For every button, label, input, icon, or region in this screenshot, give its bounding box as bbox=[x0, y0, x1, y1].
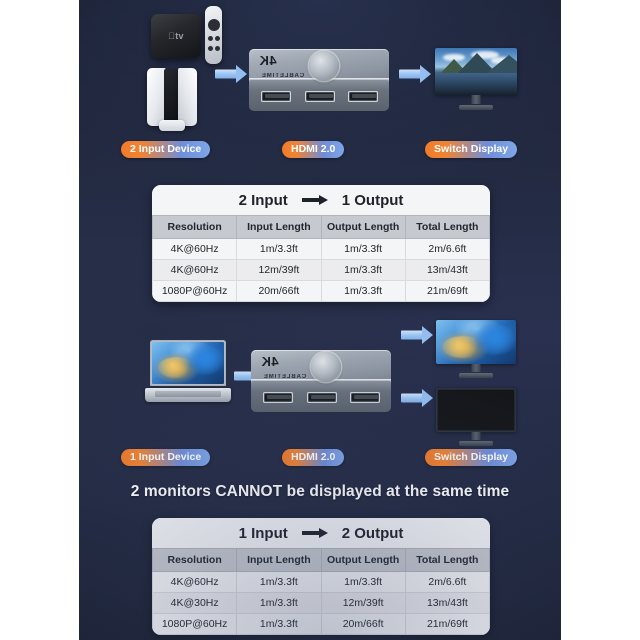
table-row: 1080P@60Hz 1m/3.3ft 20m/66ft 21m/69ft bbox=[153, 614, 490, 635]
hdmi-port bbox=[350, 392, 380, 403]
table-title: 2 Input 1 Output bbox=[152, 185, 490, 215]
hdmi-port bbox=[307, 392, 337, 403]
table-title: 1 Input 2 Output bbox=[152, 518, 490, 548]
switch-4k-label: 4K bbox=[261, 354, 279, 369]
column-header: Resolution bbox=[153, 216, 237, 239]
apple-tv-box: tv bbox=[151, 14, 201, 58]
column-header: Output Length bbox=[321, 549, 405, 572]
monitor-neck bbox=[472, 432, 481, 440]
cell-output-length: 1m/3.3ft bbox=[321, 260, 405, 281]
cell-input-length: 1m/3.3ft bbox=[237, 593, 321, 614]
table-header-row: Resolution Input Length Output Length To… bbox=[153, 216, 490, 239]
remote-button-icon bbox=[208, 36, 213, 41]
laptop-screen bbox=[152, 342, 224, 384]
hdmi-port bbox=[348, 91, 378, 102]
input-laptop bbox=[145, 340, 231, 402]
badge-hdmi-version: HDMI 2.0 bbox=[282, 449, 344, 466]
hdmi-switch-device: 4K CABLETIME bbox=[249, 49, 389, 111]
flow-arrow-icon bbox=[401, 325, 433, 345]
table-row: 4K@30Hz 1m/3.3ft 12m/39ft 13m/43ft bbox=[153, 593, 490, 614]
column-header: Total Length bbox=[405, 549, 489, 572]
inactive-output-monitor bbox=[436, 388, 516, 446]
spec-table: Resolution Input Length Output Length To… bbox=[152, 548, 490, 635]
cell-resolution: 1080P@60Hz bbox=[153, 281, 237, 302]
laptop-lid bbox=[150, 340, 226, 386]
flow-arrow-icon bbox=[215, 64, 247, 84]
cell-total-length: 13m/43ft bbox=[405, 260, 489, 281]
table-row: 4K@60Hz 1m/3.3ft 1m/3.3ft 2m/6.6ft bbox=[153, 572, 490, 593]
column-header: Total Length bbox=[405, 216, 489, 239]
monitor-base bbox=[459, 373, 493, 378]
cell-resolution: 4K@30Hz bbox=[153, 593, 237, 614]
remote-button-icon bbox=[215, 36, 220, 41]
remote-button-icon bbox=[208, 46, 213, 51]
spec-table-1in-2out: 1 Input 2 Output Resolution Input Length… bbox=[152, 518, 490, 635]
table-row: 4K@60Hz 1m/3.3ft 1m/3.3ft 2m/6.6ft bbox=[153, 239, 490, 260]
monitor-screen-off bbox=[436, 388, 516, 432]
apple-tv-logo: tv bbox=[168, 31, 184, 41]
cell-resolution: 4K@60Hz bbox=[153, 239, 237, 260]
remote-button-icon bbox=[215, 46, 220, 51]
cell-total-length: 13m/43ft bbox=[405, 593, 489, 614]
table-title-left: 1 Input bbox=[239, 525, 288, 542]
warning-text: 2 monitors CANNOT be displayed at the sa… bbox=[79, 483, 561, 501]
cell-input-length: 12m/39ft bbox=[237, 260, 321, 281]
monitor-base bbox=[459, 441, 493, 446]
monitor-base bbox=[459, 105, 493, 110]
cell-resolution: 4K@60Hz bbox=[153, 572, 237, 593]
table-header-row: Resolution Input Length Output Length To… bbox=[153, 549, 490, 572]
monitor-neck bbox=[472, 95, 481, 104]
badge-switch-display: Switch Display bbox=[425, 141, 517, 158]
flow-arrow-icon bbox=[399, 64, 431, 84]
landscape-wallpaper bbox=[435, 48, 517, 95]
cell-input-length: 1m/3.3ft bbox=[237, 239, 321, 260]
cell-output-length: 1m/3.3ft bbox=[321, 281, 405, 302]
column-header: Output Length bbox=[321, 216, 405, 239]
table-row: 1080P@60Hz 20m/66ft 1m/3.3ft 21m/69ft bbox=[153, 281, 490, 302]
switch-selector-dial[interactable] bbox=[311, 352, 341, 382]
title-arrow-icon bbox=[302, 528, 328, 538]
ps5-right-panel bbox=[178, 68, 197, 126]
output-monitor bbox=[435, 48, 517, 110]
table-title-right: 2 Output bbox=[342, 525, 404, 542]
remote-dial-icon bbox=[208, 19, 220, 31]
cell-resolution: 4K@60Hz bbox=[153, 260, 237, 281]
flow-arrow-icon bbox=[401, 388, 433, 408]
hdmi-port bbox=[263, 392, 293, 403]
active-output-monitor bbox=[436, 320, 516, 378]
badge-input-device: 2 Input Device bbox=[121, 141, 210, 158]
column-header: Input Length bbox=[237, 549, 321, 572]
apple-tv-remote bbox=[205, 6, 222, 64]
ps5-core bbox=[164, 69, 178, 125]
dark-panel: tv bbox=[79, 0, 561, 640]
laptop-base bbox=[145, 388, 231, 402]
monitor-neck bbox=[472, 364, 481, 372]
cell-output-length: 12m/39ft bbox=[321, 593, 405, 614]
cell-output-length: 20m/66ft bbox=[321, 614, 405, 635]
switch-4k-label: 4K bbox=[259, 53, 277, 68]
table-row: 4K@60Hz 12m/39ft 1m/3.3ft 13m/43ft bbox=[153, 260, 490, 281]
cell-resolution: 1080P@60Hz bbox=[153, 614, 237, 635]
column-header: Resolution bbox=[153, 549, 237, 572]
spec-table: Resolution Input Length Output Length To… bbox=[152, 215, 490, 302]
badge-hdmi-version: HDMI 2.0 bbox=[282, 141, 344, 158]
cell-output-length: 1m/3.3ft bbox=[321, 239, 405, 260]
badge-switch-display: Switch Display bbox=[425, 449, 517, 466]
cell-total-length: 21m/69ft bbox=[405, 281, 489, 302]
abstract-wallpaper bbox=[152, 342, 224, 384]
hdmi-port bbox=[261, 91, 291, 102]
wallpaper-water bbox=[435, 73, 517, 95]
table-title-right: 1 Output bbox=[342, 192, 404, 209]
monitor-screen bbox=[436, 320, 516, 364]
monitor-screen bbox=[435, 48, 517, 95]
badge-input-device: 1 Input Device bbox=[121, 449, 210, 466]
table-title-left: 2 Input bbox=[239, 192, 288, 209]
cell-input-length: 1m/3.3ft bbox=[237, 614, 321, 635]
cell-input-length: 1m/3.3ft bbox=[237, 572, 321, 593]
column-header: Input Length bbox=[237, 216, 321, 239]
laptop-keyboard bbox=[155, 391, 220, 397]
playstation-console bbox=[147, 68, 197, 126]
hdmi-port bbox=[305, 91, 335, 102]
spec-table-2in-1out: 2 Input 1 Output Resolution Input Length… bbox=[152, 185, 490, 302]
switch-brand-label: CABLETIME bbox=[261, 73, 304, 79]
content-layer: tv bbox=[79, 0, 561, 640]
cell-total-length: 2m/6.6ft bbox=[405, 239, 489, 260]
switch-brand-label: CABLETIME bbox=[263, 374, 306, 380]
switch-selector-dial[interactable] bbox=[309, 51, 339, 81]
cell-input-length: 20m/66ft bbox=[237, 281, 321, 302]
title-arrow-icon bbox=[302, 195, 328, 205]
infographic-canvas: tv bbox=[0, 0, 640, 640]
cell-total-length: 21m/69ft bbox=[405, 614, 489, 635]
cell-total-length: 2m/6.6ft bbox=[405, 572, 489, 593]
hdmi-switch-device: 4K CABLETIME bbox=[251, 350, 391, 412]
cell-output-length: 1m/3.3ft bbox=[321, 572, 405, 593]
abstract-wallpaper bbox=[436, 320, 516, 364]
ps5-controller bbox=[159, 120, 185, 131]
